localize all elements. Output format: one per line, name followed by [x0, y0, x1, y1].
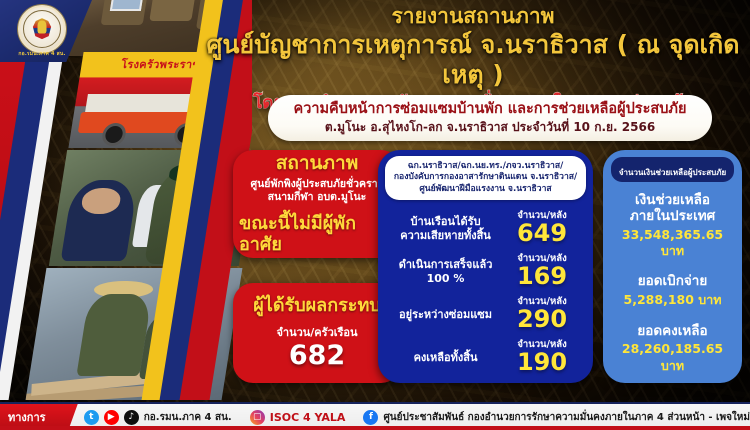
affected-value: 682 — [289, 342, 345, 370]
subtitle-pill: ความคืบหน้าการซ่อมแซมบ้านพัก และการช่วยเ… — [268, 95, 712, 141]
location-date-text: ต.มูโนะ อ.สุไหงโก-ลก จ.นราธิวาส ประจำวัน… — [325, 120, 655, 135]
tiktok-glyph: ♪ — [128, 412, 134, 422]
funds-label-line1: ยอดคงเหลือ — [609, 324, 736, 340]
shelter-status-title: สถานภาพ — [276, 153, 358, 174]
repair-row-label-line1: ดำเนินการเสร็จแล้ว — [389, 258, 502, 272]
funds-pill-text: จำนวนเงินช่วยเหลือผู้ประสบภัย — [619, 168, 726, 177]
relief-funds-panel: จำนวนเงินช่วยเหลือผู้ประสบภัย เงินช่วยเห… — [603, 150, 742, 383]
shelter-status-panel: สถานภาพ ศูนย์พักพิงผู้ประสบภัยชั่วคราว ส… — [233, 150, 401, 258]
repair-rows: บ้านเรือนได้รับ ความเสียหายทั้งสิ้น จำนว… — [385, 207, 586, 379]
repair-row-value-block: จำนวน/หลัง 290 — [502, 297, 582, 333]
facebook-icon[interactable]: f — [363, 410, 378, 425]
repair-progress-panel: ฉก.นราธิวาส/ฉก.นย.ทร./ภจว.นราธิวาส/ กองบ… — [378, 150, 593, 383]
affected-households-panel: ผู้ได้รับผลกระทบ จำนวน/ครัวเรือน 682 — [233, 283, 401, 383]
truck-wheel — [101, 123, 128, 146]
facebook-glyph: f — [369, 412, 373, 422]
subtitle-text: ความคืบหน้าการซ่อมแซมบ้านพัก และการช่วยเ… — [294, 101, 687, 118]
twitter-icon[interactable]: t — [84, 410, 99, 425]
repair-row-label: อยู่ระหว่างซ่อมแซม — [389, 308, 502, 322]
repair-row-label: คงเหลือทั้งสิ้น — [389, 351, 502, 365]
footer-channels: t ▶ ♪ กอ.รมน.ภาค 4 สน. ▢ ISOC 4 YALA f ศ… — [78, 410, 750, 425]
funds-pill: จำนวนเงินช่วยเหลือผู้ประสบภัย — [611, 157, 734, 182]
agency-line-1: ฉก.นราธิวาส/ฉก.นย.ทร./ภจว.นราธิวาส/ — [391, 161, 580, 172]
agency-line-3: ศูนย์พัฒนาฝีมือแรงงาน จ.นราธิวาส — [391, 184, 580, 195]
repair-row-label-line2: ความเสียหายทั้งสิ้น — [389, 229, 502, 243]
infographic-canvas: โรงครัวพระราชทาน — [0, 0, 750, 430]
funds-label-line1: ยอดเบิกจ่าย — [609, 274, 736, 290]
repair-row-value-block: จำนวน/หลัง 649 — [502, 211, 582, 247]
affected-title: ผู้ได้รับผลกระทบ — [253, 296, 381, 316]
funds-block: เงินช่วยเหลือ ภายในประเทศ 33,548,365.65 … — [609, 193, 736, 259]
shelter-status-sub-2: สนามกีฬา อบต.มูโนะ — [268, 191, 367, 205]
agency-line-2: กองบังคับการกองอาสารักษาดินแดน จ.นราธิวา… — [391, 172, 580, 183]
instagram-glyph: ▢ — [253, 412, 262, 422]
affected-unit: จำนวน/ครัวเรือน — [276, 323, 357, 341]
youtube-glyph: ▶ — [108, 412, 115, 422]
funds-label-line2: ภายในประเทศ — [609, 209, 736, 225]
repair-row: อยู่ระหว่างซ่อมแซม จำนวน/หลัง 290 — [385, 293, 586, 336]
repair-row: บ้านเรือนได้รับ ความเสียหายทั้งสิ้น จำนว… — [385, 207, 586, 250]
repair-row-value: 190 — [502, 350, 582, 375]
repair-row-value: 649 — [502, 221, 582, 246]
repair-row-label-line1: บ้านเรือนได้รับ — [389, 215, 502, 229]
instagram-icon[interactable]: ▢ — [250, 410, 265, 425]
emblem-caption: กอ.รมน.ภาค 4 สน. — [6, 50, 78, 58]
footer-handle-1: กอ.รมน.ภาค 4 สน. — [144, 410, 232, 425]
header-line-2: ศูนย์บัญชาการเหตุการณ์ จ.นราธิวาส ( ณ จุ… — [196, 30, 750, 90]
repair-row-value: 169 — [502, 264, 582, 289]
footer-handle-2: ISOC 4 YALA — [270, 411, 346, 424]
repair-row-label: ดำเนินการเสร็จแล้ว 100 % — [389, 258, 502, 286]
funds-amount: 28,260,185.65 บาท — [609, 341, 736, 374]
repair-row-value-block: จำนวน/หลัง 190 — [502, 340, 582, 376]
agency-list-pill: ฉก.นราธิวาส/ฉก.นย.ทร./ภจว.นราธิวาส/ กองบ… — [385, 156, 586, 200]
funds-label-line1: เงินช่วยเหลือ — [609, 193, 736, 209]
repair-row-value-block: จำนวน/หลัง 169 — [502, 254, 582, 290]
repair-row-label-line1: คงเหลือทั้งสิ้น — [389, 351, 502, 365]
repair-row-label-line2: 100 % — [389, 272, 502, 286]
youtube-icon[interactable]: ▶ — [104, 410, 119, 425]
repair-row: ดำเนินการเสร็จแล้ว 100 % จำนวน/หลัง 169 — [385, 250, 586, 293]
footer-handle-3: ศูนย์ประชาสัมพันธ์ กองอำนวยการรักษาความม… — [383, 410, 750, 425]
funds-block: ยอดคงเหลือ 28,260,185.65 บาท — [609, 324, 736, 374]
shelter-status-highlight: ขณะนี้ไม่มีผู้พักอาศัย — [239, 214, 395, 255]
shelter-status-sub-1: ศูนย์พักพิงผู้ประสบภัยชั่วคราว — [250, 178, 383, 192]
twitter-glyph: t — [89, 412, 93, 422]
repair-row-label-line1: อยู่ระหว่างซ่อมแซม — [389, 308, 502, 322]
repair-row: คงเหลือทั้งสิ้น จำนวน/หลัง 190 — [385, 336, 586, 379]
emblem-crest-center — [38, 21, 47, 34]
funds-block: ยอดเบิกจ่าย 5,288,180 บาท — [609, 274, 736, 308]
repair-row-value: 290 — [502, 307, 582, 332]
funds-amount: 33,548,365.65 บาท — [609, 227, 736, 260]
footer-base-line — [0, 426, 750, 430]
provincial-emblem-icon — [18, 5, 66, 53]
header-line-1: รายงานสถานภาพ — [196, 4, 750, 29]
repair-row-label: บ้านเรือนได้รับ ความเสียหายทั้งสิ้น — [389, 215, 502, 243]
funds-amount: 5,288,180 บาท — [609, 292, 736, 308]
tiktok-icon[interactable]: ♪ — [124, 410, 139, 425]
